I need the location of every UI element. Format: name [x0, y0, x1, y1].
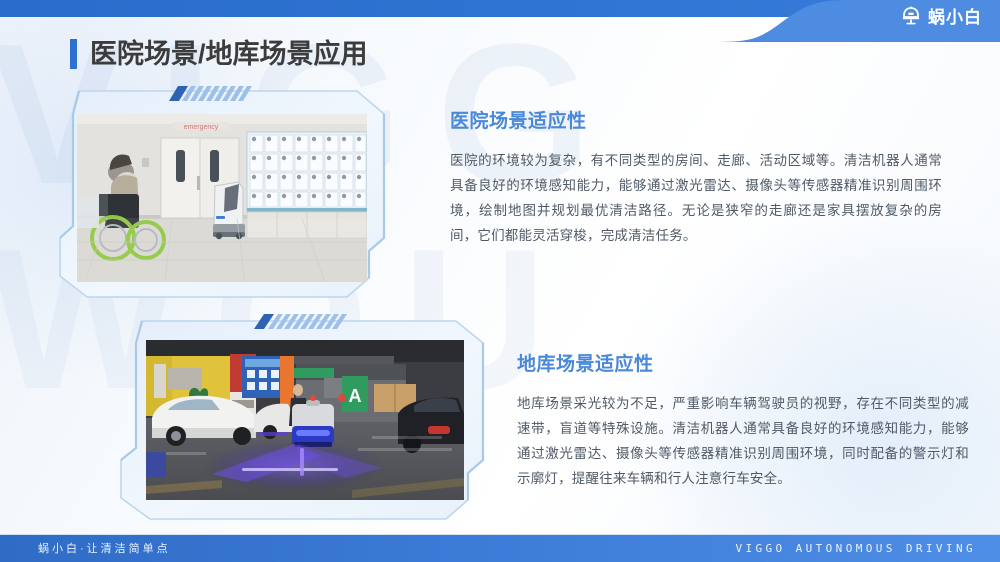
hospital-section-body: 医院的环境较为复杂，有不同类型的房间、走廊、活动区域等。清洁机器人通常具备良好的…: [450, 148, 942, 248]
slide-root: VIGG WOU 蜗小白 医院场景/地库场景应用: [0, 0, 1000, 562]
hospital-image-frame: emergency: [57, 88, 387, 300]
garage-image-frame: A: [118, 318, 486, 522]
garage-text-block: 地库场景适应性 地库场景采光较为不足，严重影响车辆驾驶员的视野，存在不同类型的减…: [517, 353, 969, 491]
underground-parking-cleaning-robot-photo: A: [146, 340, 464, 500]
robot-head-icon: [900, 5, 922, 32]
footer-company-tagline: VIGGO AUTONOMOUS DRIVING: [735, 542, 976, 556]
garage-section-heading: 地库场景适应性: [517, 353, 969, 377]
svg-text:emergency: emergency: [184, 124, 219, 131]
hospital-corridor-cleaning-robot-photo: emergency: [77, 114, 367, 282]
brand-logo-group: 蜗小白: [900, 6, 982, 30]
garage-frame-stripe-decoration: [254, 312, 352, 330]
page-title-label: 医院场景/地库场景应用: [90, 38, 368, 70]
page-title: 医院场景/地库场景应用: [70, 38, 368, 70]
title-accent-bar: [70, 39, 77, 69]
footer-slogan: 蜗小白·让清洁简单点: [38, 542, 171, 556]
hospital-frame-stripe-decoration: [169, 85, 259, 102]
hospital-section-heading: 医院场景适应性: [450, 110, 942, 134]
brand-name-label: 蜗小白: [928, 8, 982, 28]
footer-bar: 蜗小白·让清洁简单点 VIGGO AUTONOMOUS DRIVING: [0, 535, 1000, 562]
hospital-text-block: 医院场景适应性 医院的环境较为复杂，有不同类型的房间、走廊、活动区域等。清洁机器…: [450, 110, 942, 248]
garage-section-body: 地库场景采光较为不足，严重影响车辆驾驶员的视野，存在不同类型的减速带，盲道等特殊…: [517, 391, 969, 491]
svg-text:A: A: [349, 386, 362, 406]
